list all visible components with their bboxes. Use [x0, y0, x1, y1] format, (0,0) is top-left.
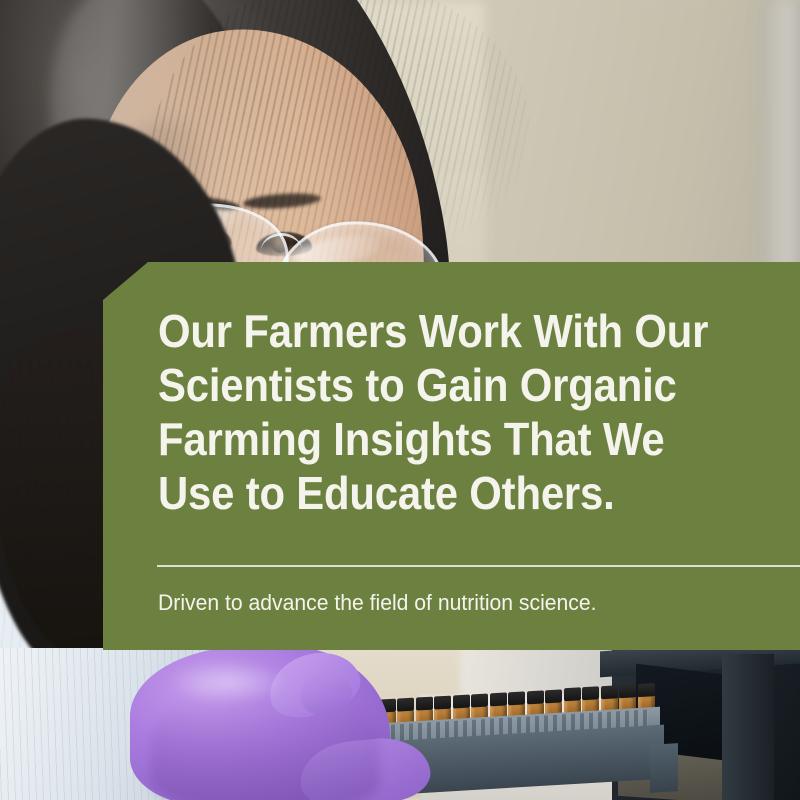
subheadline: Driven to advance the field of nutrition… — [158, 589, 760, 617]
divider-rule — [157, 565, 800, 567]
banner-stage: Our Farmers Work With Our Scientists to … — [0, 0, 800, 800]
laboratory-foreground — [0, 648, 800, 800]
purple-glove-highlight — [168, 660, 288, 704]
green-message-panel: Our Farmers Work With Our Scientists to … — [103, 262, 800, 650]
sample-tray-right-edge — [650, 743, 678, 793]
lab-instrument-side-panel — [722, 654, 774, 800]
purple-glove-shading — [150, 698, 380, 800]
headline: Our Farmers Work With Our Scientists to … — [158, 304, 722, 520]
